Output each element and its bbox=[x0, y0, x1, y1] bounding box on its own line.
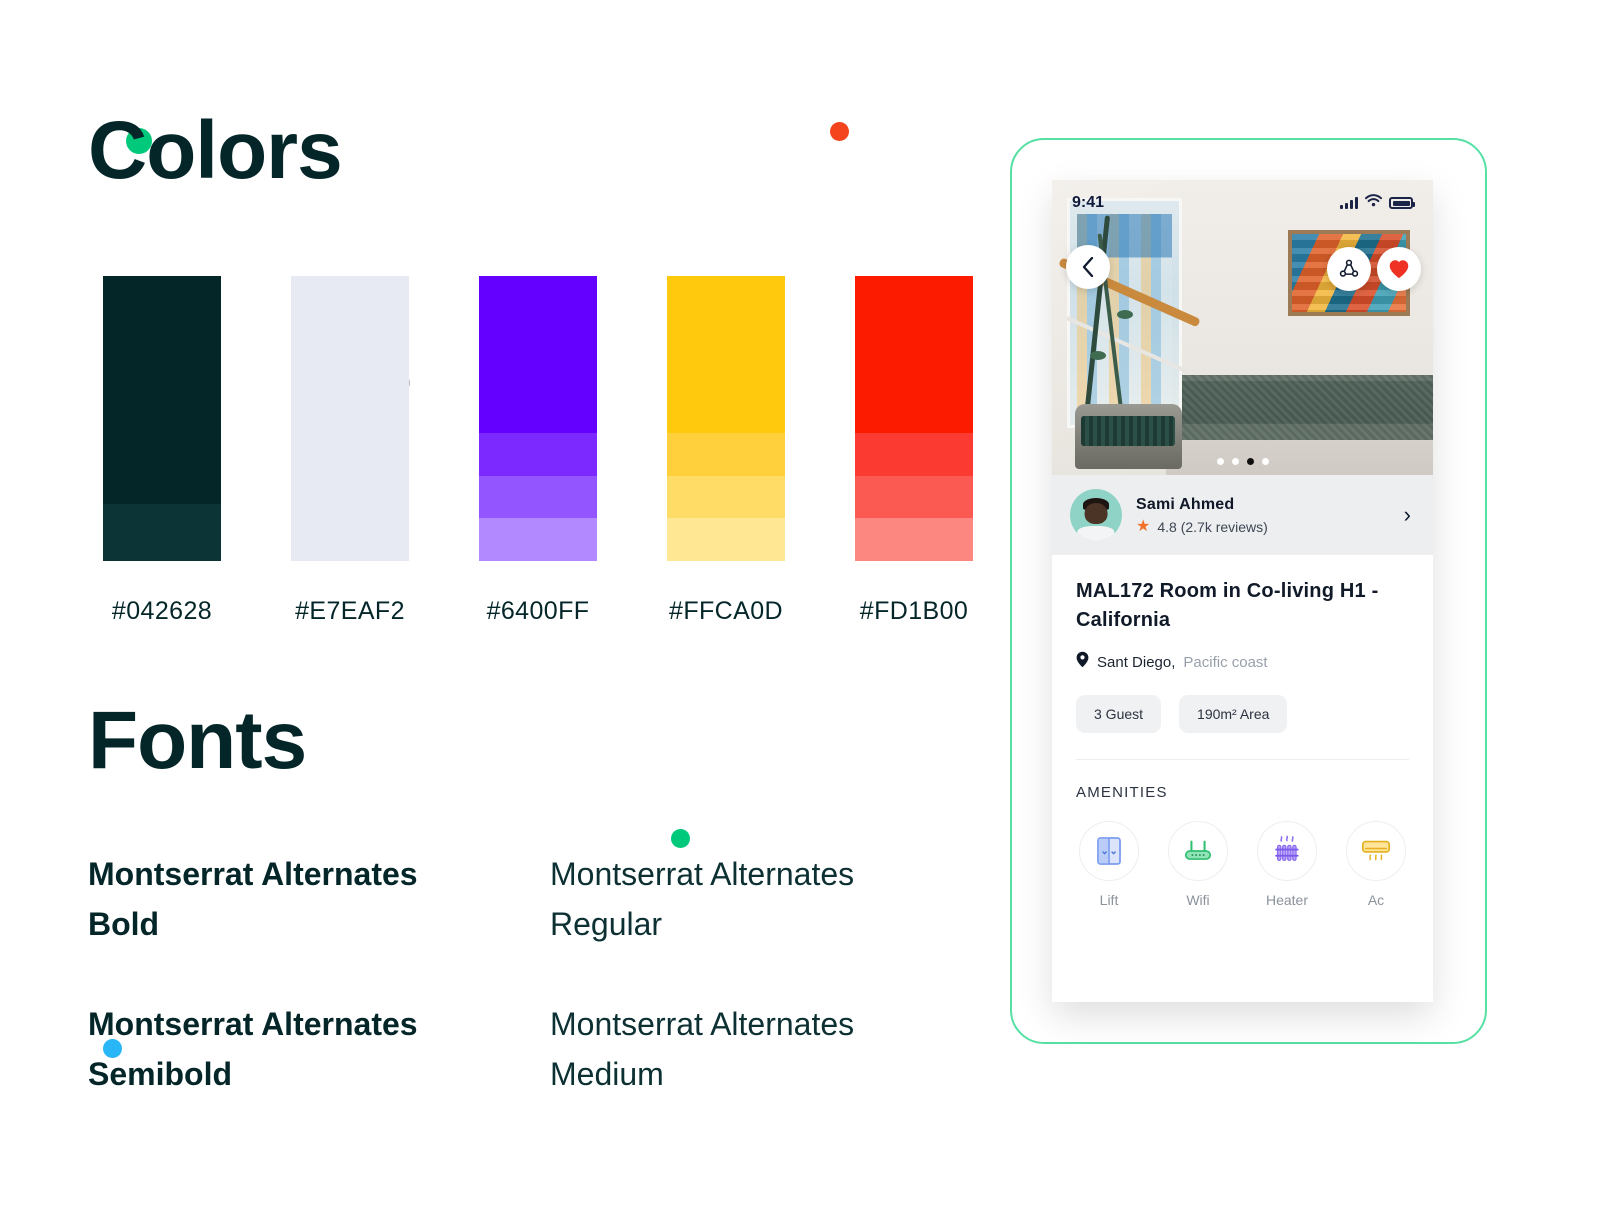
swatch-step bbox=[479, 476, 597, 519]
wifi-router-icon bbox=[1183, 837, 1213, 865]
swatch-step bbox=[667, 433, 785, 476]
amenity-icon-circle bbox=[1168, 821, 1228, 881]
cellular-signal-icon bbox=[1340, 197, 1358, 209]
accent-dot-green-fonts bbox=[671, 829, 690, 848]
carousel-dot-active[interactable] bbox=[1247, 458, 1254, 465]
host-rating-text: 4.8 (2.7k reviews) bbox=[1157, 519, 1267, 535]
swatch-step bbox=[103, 504, 221, 561]
star-icon: ★ bbox=[1136, 519, 1150, 535]
tag-area: 190m² Area bbox=[1179, 695, 1287, 733]
swatch-bar bbox=[291, 276, 409, 561]
style-guide-page: Colors #042628 #E7EAF2 #6400FF bbox=[0, 0, 1600, 1209]
amenities-heading: AMENITIES bbox=[1076, 784, 1409, 801]
host-meta: Sami Ahmed ★ 4.8 (2.7k reviews) bbox=[1136, 496, 1390, 535]
amenity-label: Ac bbox=[1343, 892, 1409, 908]
font-sample-regular: Montserrat Alternates Regular bbox=[550, 850, 950, 1000]
font-sample-grid: Montserrat Alternates Bold Montserrat Al… bbox=[88, 850, 968, 1150]
swatch-step bbox=[291, 276, 409, 561]
host-name: Sami Ahmed bbox=[1136, 496, 1390, 514]
battery-icon bbox=[1389, 197, 1413, 209]
swatch-step bbox=[667, 476, 785, 519]
amenity-lift[interactable]: Lift bbox=[1076, 821, 1142, 908]
back-button[interactable] bbox=[1066, 245, 1110, 289]
avatar-shirt bbox=[1077, 526, 1114, 541]
swatch-bar bbox=[479, 276, 597, 561]
swatch-bar bbox=[667, 276, 785, 561]
swatch-step bbox=[855, 476, 973, 519]
share-icon bbox=[1338, 258, 1360, 280]
swatch-step bbox=[855, 433, 973, 476]
swatch-step bbox=[855, 518, 973, 561]
carousel-dot[interactable] bbox=[1232, 458, 1239, 465]
status-bar: 9:41 bbox=[1052, 180, 1433, 220]
amenity-label: Lift bbox=[1076, 892, 1142, 908]
color-swatch-row: #042628 #E7EAF2 #6400FF #F bbox=[103, 276, 973, 626]
section-divider bbox=[1076, 759, 1409, 760]
swatch-step bbox=[479, 433, 597, 476]
color-swatch-yellow: #FFCA0D bbox=[667, 276, 785, 626]
host-row[interactable]: Sami Ahmed ★ 4.8 (2.7k reviews) › bbox=[1052, 475, 1433, 555]
listing-region: Pacific coast bbox=[1183, 654, 1267, 671]
status-bar-indicators bbox=[1340, 194, 1413, 212]
air-conditioner-icon bbox=[1360, 837, 1392, 865]
amenity-heater[interactable]: Heater bbox=[1254, 821, 1320, 908]
share-button[interactable] bbox=[1327, 247, 1371, 291]
host-chevron-right-icon[interactable]: › bbox=[1404, 502, 1415, 528]
favorite-button[interactable] bbox=[1377, 247, 1421, 291]
color-swatch-light-grey: #E7EAF2 bbox=[291, 276, 409, 626]
listing-location: Sant Diego, Pacific coast bbox=[1076, 651, 1409, 673]
carousel-dot[interactable] bbox=[1217, 458, 1224, 465]
swatch-step bbox=[479, 518, 597, 561]
listing-details: MAL172 Room in Co-living H1 - California… bbox=[1052, 555, 1433, 908]
heater-icon bbox=[1272, 835, 1302, 867]
font-sample-semibold: Montserrat Alternates Semibold bbox=[88, 1000, 488, 1150]
location-pin-icon bbox=[1076, 651, 1089, 673]
host-rating: ★ 4.8 (2.7k reviews) bbox=[1136, 519, 1390, 535]
listing-hero-image[interactable]: 9:41 bbox=[1052, 180, 1433, 475]
swatch-hex-label: #FFCA0D bbox=[667, 597, 785, 626]
carousel-dot[interactable] bbox=[1262, 458, 1269, 465]
avatar bbox=[1070, 489, 1122, 541]
status-bar-time: 9:41 bbox=[1072, 194, 1104, 212]
phone-screen: 9:41 bbox=[1052, 180, 1433, 1002]
wifi-icon bbox=[1365, 194, 1382, 212]
listing-title: MAL172 Room in Co-living H1 - California bbox=[1076, 577, 1409, 635]
page-title-fonts: Fonts bbox=[88, 700, 306, 782]
swatch-step bbox=[855, 276, 973, 433]
amenity-icon-circle bbox=[1346, 821, 1406, 881]
tag-guests: 3 Guest bbox=[1076, 695, 1161, 733]
chevron-left-icon bbox=[1082, 257, 1094, 277]
avatar-face bbox=[1085, 503, 1108, 525]
swatch-hex-label: #042628 bbox=[103, 597, 221, 626]
swatch-hex-label: #6400FF bbox=[479, 597, 597, 626]
page-title-colors: Colors bbox=[88, 110, 342, 192]
amenity-label: Wifi bbox=[1165, 892, 1231, 908]
swatch-step bbox=[103, 276, 221, 504]
carousel-dots[interactable] bbox=[1052, 458, 1433, 465]
swatch-step bbox=[667, 276, 785, 433]
heart-icon bbox=[1388, 259, 1410, 279]
color-swatch-red: #FD1B00 bbox=[855, 276, 973, 626]
hero-leaf bbox=[1117, 310, 1133, 319]
swatch-hex-label: #FD1B00 bbox=[855, 597, 973, 626]
swatch-bar bbox=[855, 276, 973, 561]
lift-icon bbox=[1096, 836, 1122, 866]
amenity-wifi[interactable]: Wifi bbox=[1165, 821, 1231, 908]
amenities-row: Lift Wifi bbox=[1076, 821, 1409, 908]
accent-dot-orange bbox=[830, 122, 849, 141]
hero-floor-tiles bbox=[1166, 375, 1433, 440]
listing-city: Sant Diego, bbox=[1097, 654, 1175, 671]
swatch-step bbox=[667, 518, 785, 561]
amenity-ac[interactable]: Ac bbox=[1343, 821, 1409, 908]
swatch-hex-label: #E7EAF2 bbox=[291, 597, 409, 626]
swatch-bar bbox=[103, 276, 221, 561]
font-sample-medium: Montserrat Alternates Medium bbox=[550, 1000, 950, 1150]
font-sample-bold: Montserrat Alternates Bold bbox=[88, 850, 488, 1000]
color-swatch-dark-teal: #042628 bbox=[103, 276, 221, 626]
amenity-icon-circle bbox=[1079, 821, 1139, 881]
color-swatch-purple: #6400FF bbox=[479, 276, 597, 626]
listing-tags: 3 Guest 190m² Area bbox=[1076, 695, 1409, 733]
amenity-label: Heater bbox=[1254, 892, 1320, 908]
swatch-step bbox=[479, 276, 597, 433]
amenity-icon-circle bbox=[1257, 821, 1317, 881]
